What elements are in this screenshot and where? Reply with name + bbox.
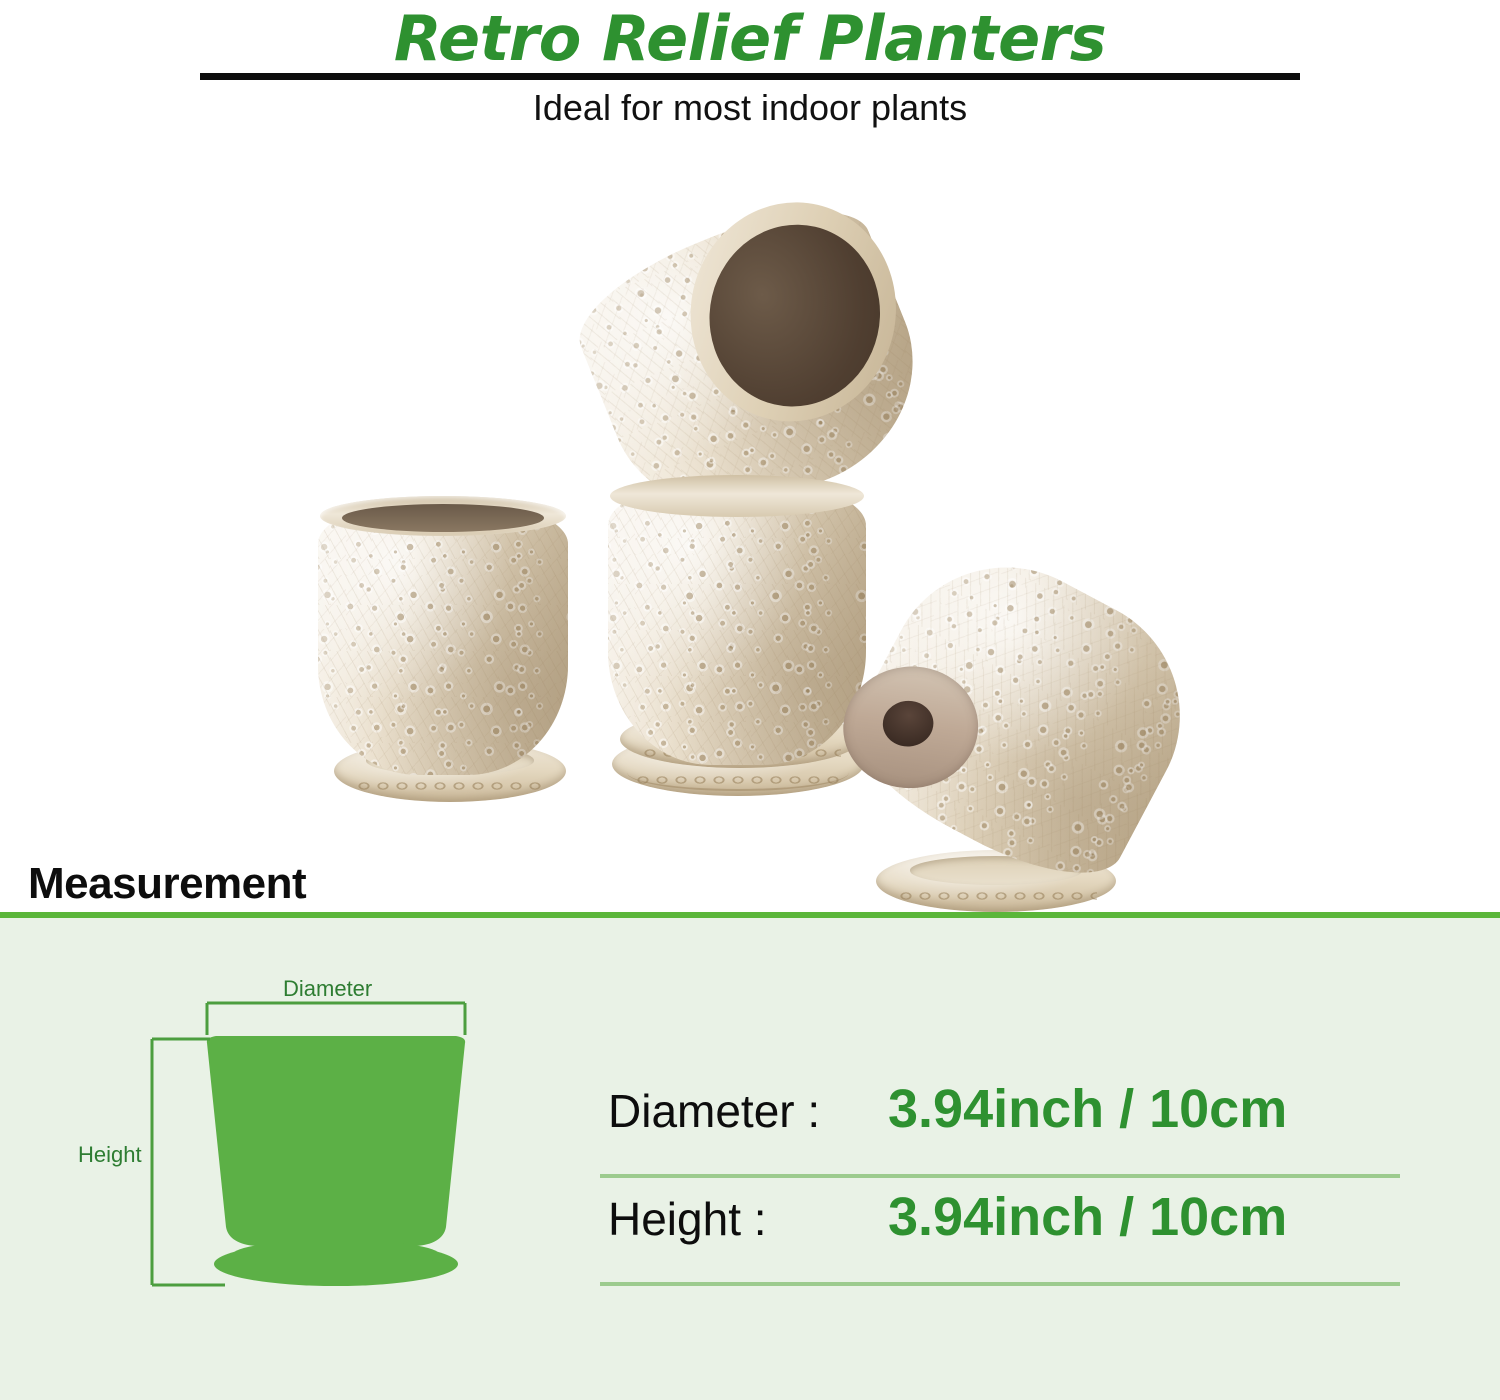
spec-label: Diameter :	[608, 1084, 820, 1138]
title-divider	[200, 73, 1300, 80]
spec-row-height: Height : 3.94inch / 10cm	[600, 1178, 1400, 1286]
measurement-heading: Measurement	[28, 858, 306, 910]
saucer-chain-pattern	[895, 889, 1097, 903]
spec-row-diameter: Diameter : 3.94inch / 10cm	[600, 1070, 1400, 1178]
tipped-pot	[830, 525, 1222, 904]
page-subtitle: Ideal for most indoor plants	[0, 86, 1500, 130]
spec-label: Height :	[608, 1192, 767, 1246]
header: Retro Relief Planters Ideal for most ind…	[0, 0, 1500, 140]
product-photo	[0, 150, 1500, 850]
diameter-dimension-line	[207, 1003, 465, 1035]
upright-pot-rim	[610, 475, 864, 517]
saucer-chain-pattern	[632, 773, 844, 787]
diagram-pot-body	[207, 1036, 465, 1246]
upright-pot-body	[608, 480, 866, 765]
upright-pot	[608, 480, 866, 765]
spec-list: Diameter : 3.94inch / 10cm Height : 3.94…	[600, 1070, 1400, 1286]
diagram-height-label: Height	[78, 1142, 142, 1168]
planted-pot-body	[318, 500, 568, 775]
saucer-chain-pattern	[353, 779, 548, 793]
spec-value: 3.94inch / 10cm	[888, 1186, 1287, 1248]
diagram-diameter-label: Diameter	[283, 976, 372, 1002]
planted-pot	[318, 500, 568, 775]
planted-pot-soil	[342, 504, 544, 532]
page-title: Retro Relief Planters	[0, 4, 1500, 74]
measurement-diagram	[60, 955, 520, 1315]
spec-value: 3.94inch / 10cm	[888, 1078, 1287, 1140]
